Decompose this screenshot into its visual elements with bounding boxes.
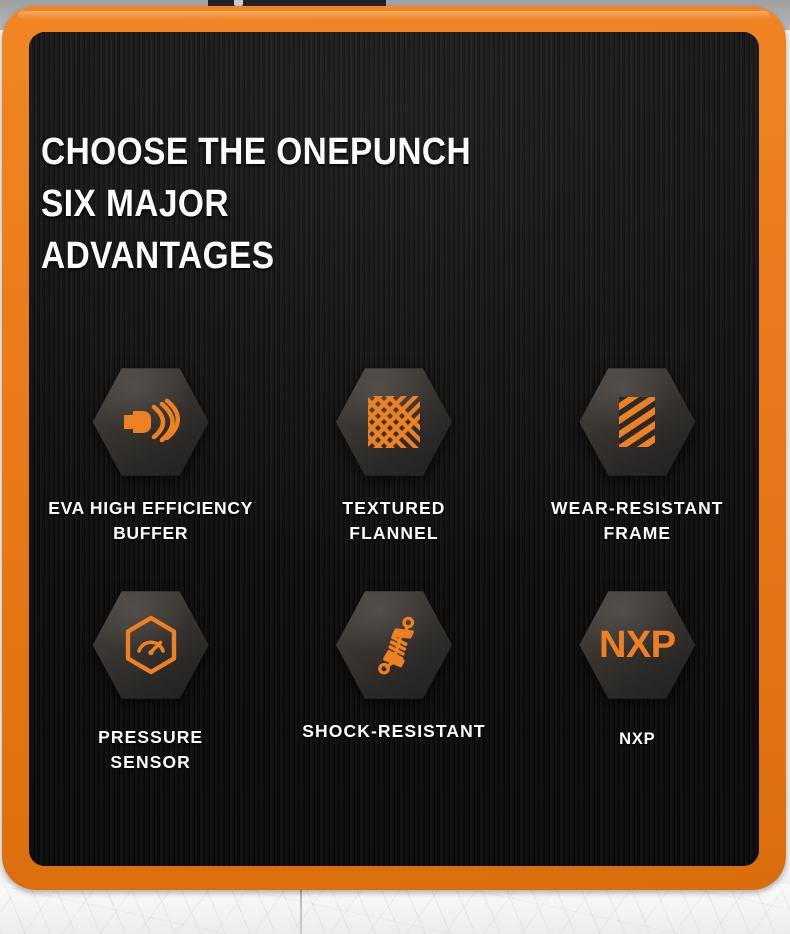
caption-line-2: FRAME	[551, 521, 724, 546]
feature-tile	[93, 589, 209, 701]
caption-line-1: PRESSURE	[98, 725, 203, 750]
dark-ribbed-panel: CHOOSE THE ONEPUNCH SIX MAJOR ADVANTAGES	[29, 32, 759, 866]
caption-line-1: EVA HIGH EFFICIENCY	[48, 496, 253, 521]
feature-item-shock-resistant: SHOCK-RESISTANT	[272, 587, 515, 812]
product-feature-panel-scene: CHOOSE THE ONEPUNCH SIX MAJOR ADVANTAGES	[0, 0, 790, 934]
caption-line-2: SENSOR	[98, 750, 203, 775]
caption-line-2: BUFFER	[48, 521, 253, 546]
caption-line-1: TEXTURED	[342, 496, 445, 521]
title-line-1: CHOOSE THE ONEPUNCH	[41, 126, 534, 178]
feature-item-eva-buffer: EVA HIGH EFFICIENCY BUFFER	[29, 362, 272, 587]
feature-item-nxp: NXP NXP	[516, 587, 759, 812]
caption-line-1: WEAR-RESISTANT	[551, 496, 724, 521]
feature-tile	[336, 366, 452, 478]
feature-caption: EVA HIGH EFFICIENCY BUFFER	[48, 496, 253, 546]
caption-line-2: FLANNEL	[342, 521, 445, 546]
feature-item-textured-flannel: TEXTURED FLANNEL	[272, 362, 515, 587]
feature-item-pressure-sensor: PRESSURE SENSOR	[29, 587, 272, 812]
diagonal-hatch-frame-icon	[605, 390, 669, 454]
feature-tile: NXP	[579, 589, 695, 701]
feature-grid: EVA HIGH EFFICIENCY BUFFER	[29, 362, 759, 812]
background-floor	[0, 884, 790, 934]
feature-tile	[336, 589, 452, 701]
nxp-wordmark-icon: NXP	[599, 626, 676, 664]
page-title: CHOOSE THE ONEPUNCH SIX MAJOR ADVANTAGES	[41, 126, 534, 282]
feature-caption: WEAR-RESISTANT FRAME	[551, 496, 724, 546]
coil-shock-absorber-icon	[362, 613, 426, 677]
caption-line-1: NXP	[619, 727, 655, 752]
hexagon-gauge-sensor-icon	[119, 613, 183, 677]
frame-gloss-highlight	[18, 11, 770, 20]
caption-line-1: SHOCK-RESISTANT	[302, 719, 485, 744]
floor-seam-line	[300, 884, 302, 934]
feature-item-wear-resistant-frame: WEAR-RESISTANT FRAME	[516, 362, 759, 587]
title-line-2: SIX MAJOR	[41, 178, 534, 230]
feature-caption: TEXTURED FLANNEL	[342, 496, 445, 546]
feature-tile	[579, 366, 695, 478]
fist-impact-waves-icon	[119, 390, 183, 454]
feature-caption: PRESSURE SENSOR	[98, 725, 203, 775]
orange-frame: CHOOSE THE ONEPUNCH SIX MAJOR ADVANTAGES	[2, 6, 786, 890]
woven-crosshatch-fabric-icon	[362, 390, 426, 454]
feature-caption: NXP	[619, 727, 655, 752]
feature-caption: SHOCK-RESISTANT	[302, 719, 485, 744]
feature-tile	[93, 366, 209, 478]
title-line-3: ADVANTAGES	[41, 230, 534, 282]
